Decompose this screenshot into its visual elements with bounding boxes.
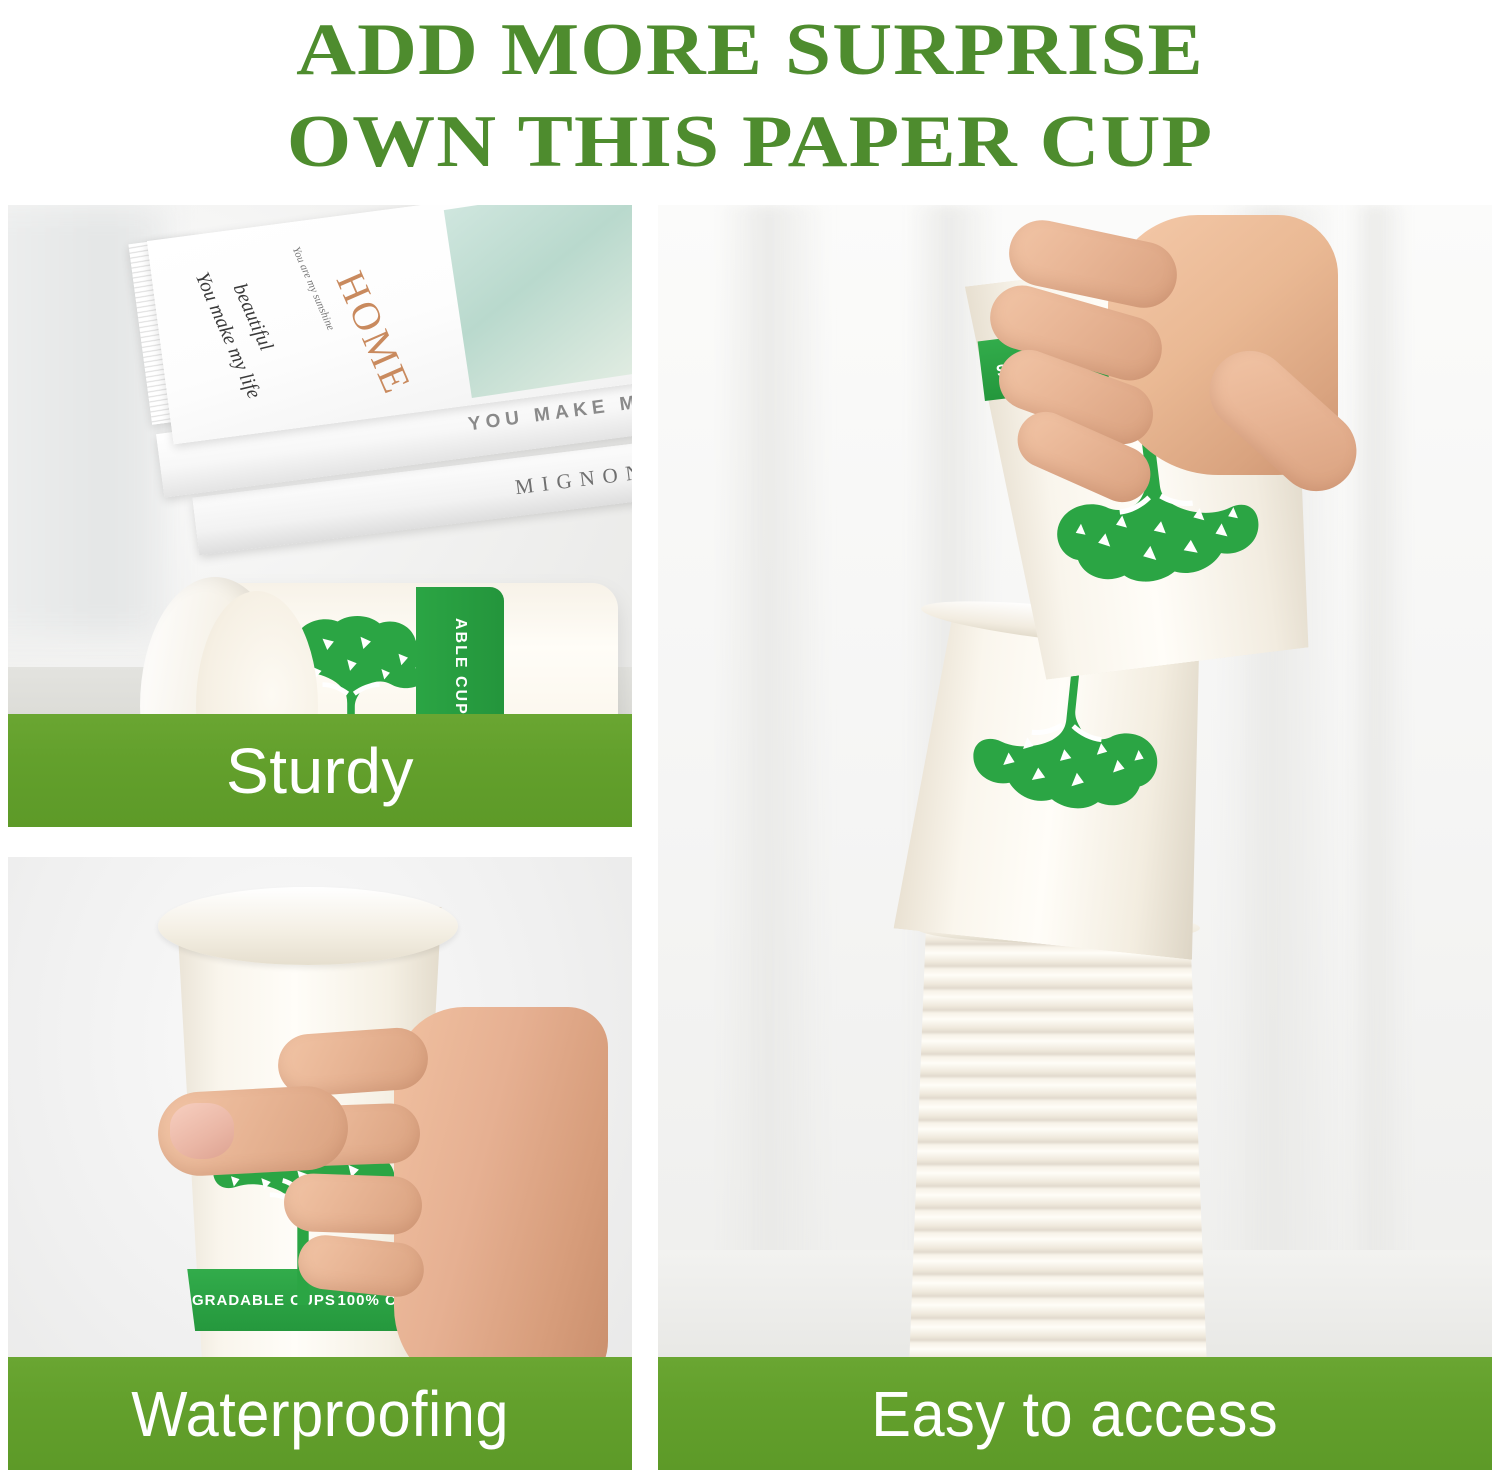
headline: ADD MORE SURPRISE OWN THIS PAPER CUP bbox=[0, 0, 1500, 190]
ring-finger bbox=[283, 1173, 423, 1236]
feature-panel-easy-to-access: RADABLE CUPS 100% COMP Easy to access bbox=[658, 205, 1492, 1470]
headline-line-1: ADD MORE SURPRISE bbox=[0, 4, 1500, 96]
caption-label: Waterproofing bbox=[131, 1382, 509, 1446]
feature-panel-waterproofing: GRADABLE CUPS 100% COMP Waterproofing bbox=[8, 857, 632, 1470]
stack-ribs bbox=[908, 925, 1208, 1395]
cup-band-left-text: ABLE CUPS bbox=[451, 618, 469, 728]
caption-bar-waterproofing: Waterproofing bbox=[8, 1357, 632, 1470]
book-spine-lower-text: MIGNON bbox=[514, 458, 632, 499]
thumb-nail bbox=[170, 1103, 234, 1159]
easy-to-access-photo: RADABLE CUPS 100% COMP bbox=[658, 205, 1492, 1470]
cup-rim bbox=[158, 887, 458, 965]
nested-cup-stack bbox=[908, 925, 1208, 1395]
caption-label: Easy to access bbox=[872, 1382, 1279, 1446]
feature-panel-sturdy: You make my life beautiful You are my su… bbox=[8, 205, 632, 827]
hand-holding-cup bbox=[308, 977, 608, 1397]
coffee-liquid bbox=[188, 909, 448, 967]
caption-bar-easy-to-access: Easy to access bbox=[658, 1357, 1492, 1470]
hand-lifting-cup bbox=[1048, 205, 1348, 535]
book-cover-title: HOME bbox=[327, 264, 422, 402]
caption-label: Sturdy bbox=[226, 739, 414, 803]
book-cover-photo bbox=[444, 205, 632, 398]
headline-line-2: OWN THIS PAPER CUP bbox=[0, 96, 1500, 188]
caption-bar-sturdy: Sturdy bbox=[8, 714, 632, 827]
